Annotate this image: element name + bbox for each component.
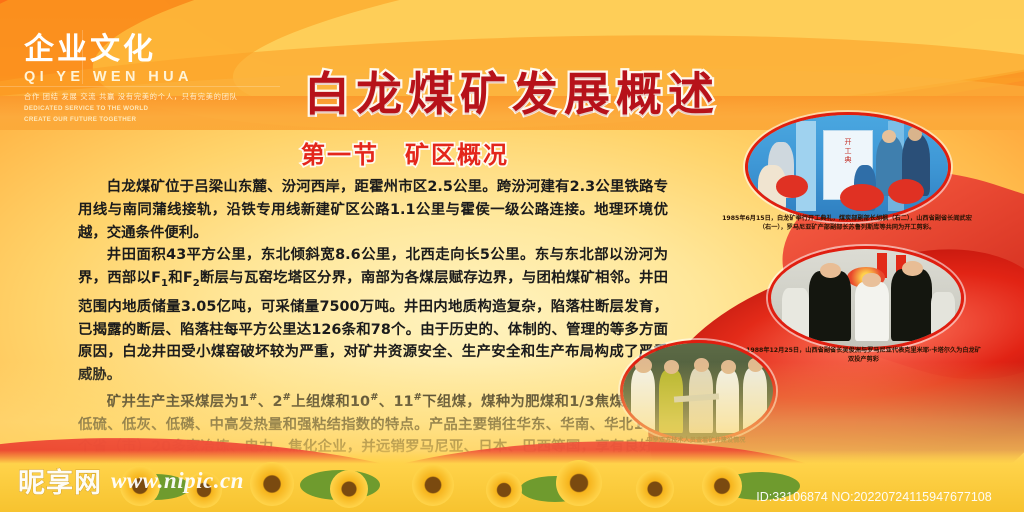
sunflower-6 (636, 470, 674, 508)
fault-subscript-1: 1 (161, 278, 168, 289)
paragraph-1-text: 白龙煤矿位于吕梁山东麓、汾河西岸，距霍州市区2.5公里。跨汾河建有2.3公里铁路… (78, 179, 668, 241)
watermark: 昵享网 www.nipic.cn (18, 461, 244, 500)
sunflower-5 (556, 460, 602, 506)
image-id-label: ID:33106874 NO:20220724115947677108 (724, 490, 1024, 504)
ceremony-board-text: 开工典 (845, 138, 852, 165)
photo-2-person-c-coat (891, 269, 933, 342)
section-title: 第一节 矿区概况 (170, 135, 640, 170)
fault-subscript-2: 2 (193, 278, 200, 289)
photo-1-head-c (882, 130, 896, 144)
paragraph-1: 白龙煤矿位于吕梁山东麓、汾河西岸，距霍州市区2.5公里。跨汾河建有2.3公里铁路… (78, 176, 668, 244)
poster-canvas: 企业文化 QI YE WEN HUA 合作 团结 发展 交流 共赢 没有完美的个… (0, 0, 1024, 512)
watermark-brand-cn: 昵享网 (18, 461, 102, 500)
groundbreaking-ceremony-photo: 开工典 (745, 112, 951, 222)
photo-2-person-b-body (855, 282, 889, 341)
photo-2-person-e-body (931, 292, 956, 341)
sunflower-2 (330, 470, 368, 508)
sunflower-3 (412, 464, 454, 506)
photo-2-person-a-coat (809, 271, 851, 342)
sunflower-1 (250, 462, 294, 506)
photo-1-caption: 1985年6月15日，白龙矿举行开工典礼，煤炭部副部长胡枫（右二），山西省副省长… (722, 214, 972, 232)
watermark-brand-url: www.nipic.cn (111, 468, 244, 494)
photo-1-flower-center (840, 184, 884, 211)
photo-2-person-d-body (782, 288, 809, 341)
production-launch-ceremony-photo (768, 246, 964, 350)
photo-1-head-d (908, 127, 922, 141)
sunflower-4 (486, 472, 522, 508)
photo-1-pillar-left (796, 121, 816, 210)
paragraph-2-part-b: 和F (168, 270, 193, 286)
